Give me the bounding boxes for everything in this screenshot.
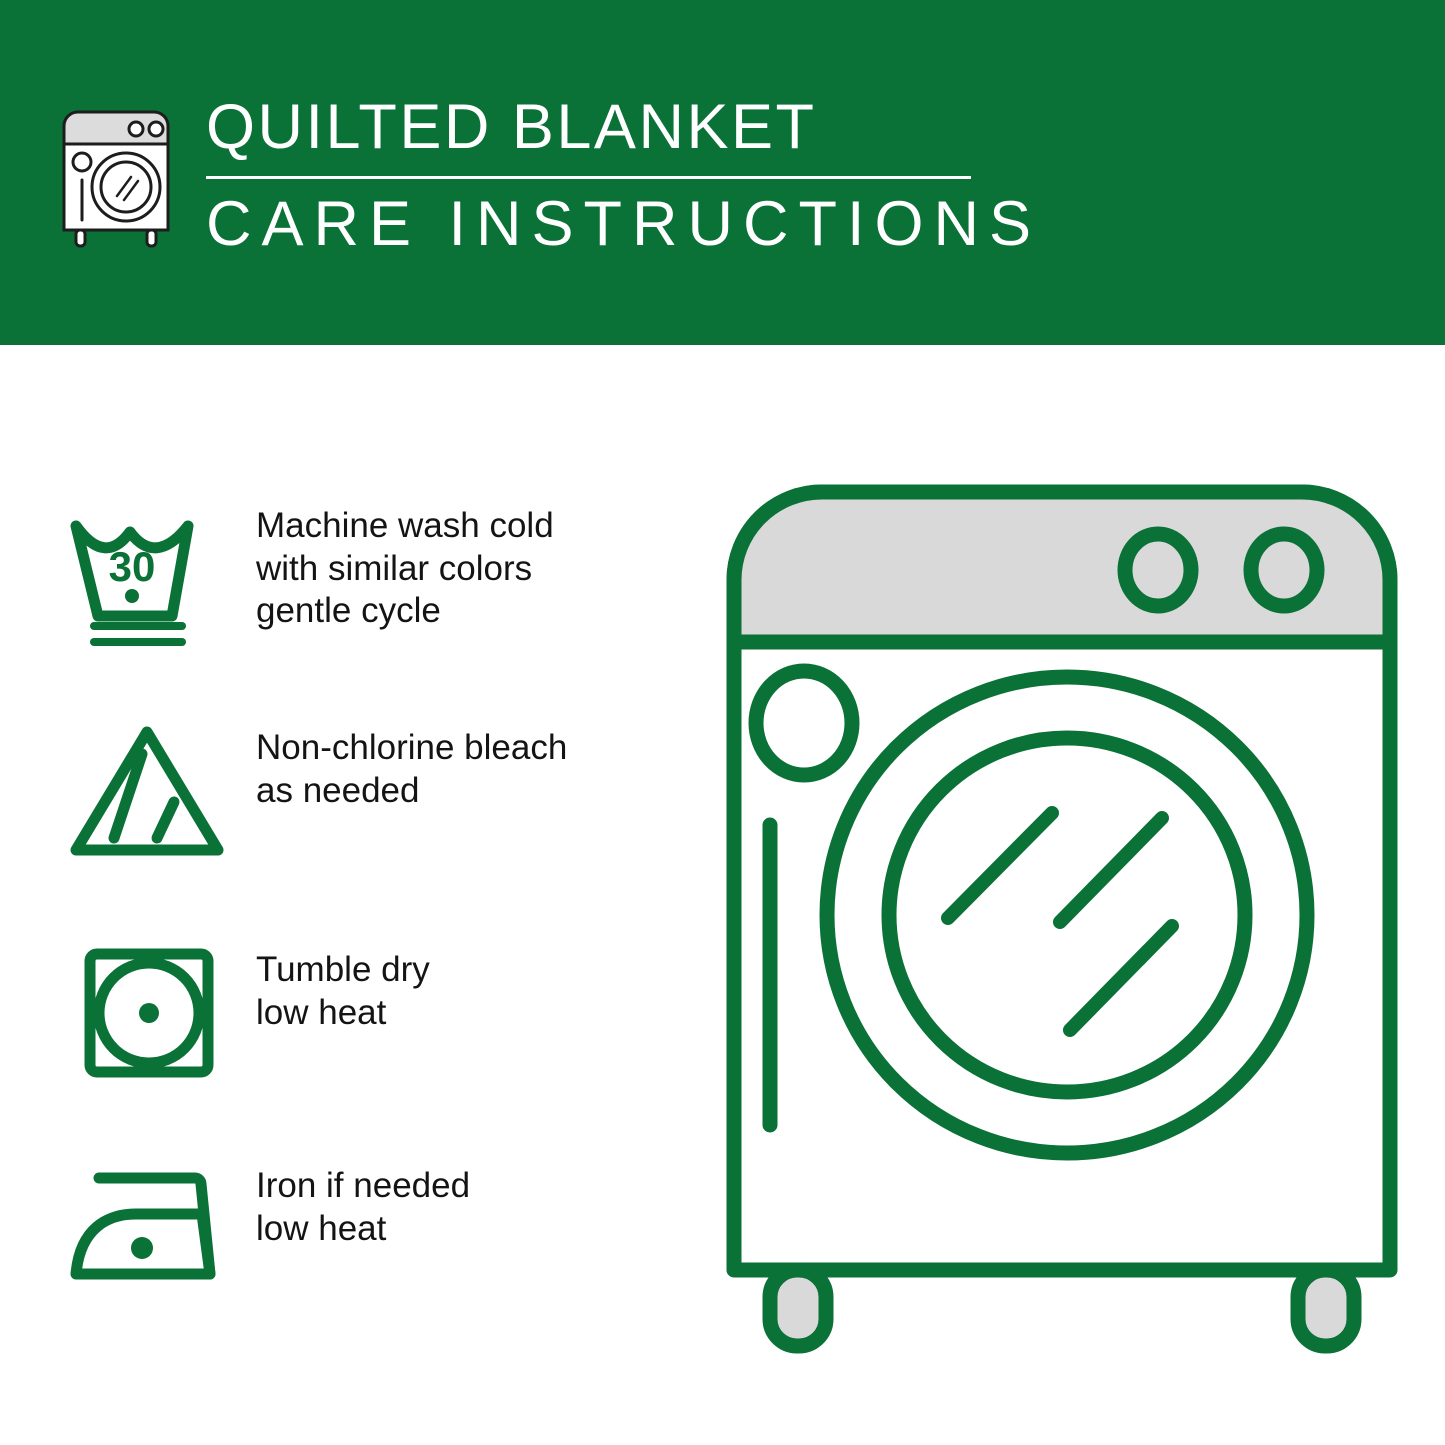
iron-low-heat-icon — [62, 1153, 232, 1313]
drawer-knob — [756, 671, 852, 775]
knob-right — [1251, 534, 1317, 606]
front-load-washing-machine-illustration — [712, 470, 1412, 1370]
care-text-line: with similar colors — [256, 548, 554, 591]
care-instruction-text: Iron if needed low heat — [256, 1153, 470, 1250]
list-item: Iron if needed low heat — [62, 1153, 692, 1313]
care-text-line: low heat — [256, 992, 430, 1035]
list-item: 30 Machine wash cold with similar colors… — [62, 493, 692, 653]
leg-left — [770, 1270, 826, 1346]
page-title: QUILTED BLANKET — [206, 96, 1041, 159]
care-instructions-poster: QUILTED BLANKET CARE INSTRUCTIONS 30 — [0, 0, 1445, 1445]
care-text-line: Machine wash cold — [256, 505, 554, 548]
wash-temperature-label: 30 — [109, 543, 156, 590]
care-text-line: gentle cycle — [256, 590, 554, 633]
knob-left — [1125, 534, 1191, 606]
header-banner: QUILTED BLANKET CARE INSTRUCTIONS — [0, 0, 1445, 345]
care-text-line: low heat — [256, 1208, 470, 1251]
care-instruction-text: Machine wash cold with similar colors ge… — [256, 493, 554, 633]
wash-tub-30-gentle-icon: 30 — [62, 493, 232, 653]
care-text-line: Tumble dry — [256, 949, 430, 992]
page-subtitle: CARE INSTRUCTIONS — [206, 193, 1041, 256]
title-divider — [206, 176, 971, 179]
care-text-line: Non-chlorine bleach — [256, 727, 567, 770]
tumble-dry-low-heat-icon — [62, 937, 232, 1097]
bleach-triangle-non-chlorine-icon — [62, 715, 232, 875]
care-text-line: as needed — [256, 770, 567, 813]
header-content: QUILTED BLANKET CARE INSTRUCTIONS — [62, 96, 1041, 256]
header-title-group: QUILTED BLANKET CARE INSTRUCTIONS — [206, 96, 1041, 256]
care-text-line: Iron if needed — [256, 1165, 470, 1208]
care-instruction-text: Non-chlorine bleach as needed — [256, 715, 567, 812]
care-instruction-text: Tumble dry low heat — [256, 937, 430, 1034]
care-instruction-list: 30 Machine wash cold with similar colors… — [0, 345, 700, 1445]
list-item: Tumble dry low heat — [62, 937, 692, 1097]
list-item: Non-chlorine bleach as needed — [62, 715, 692, 875]
leg-right — [1298, 1270, 1354, 1346]
washing-machine-icon — [62, 100, 184, 252]
